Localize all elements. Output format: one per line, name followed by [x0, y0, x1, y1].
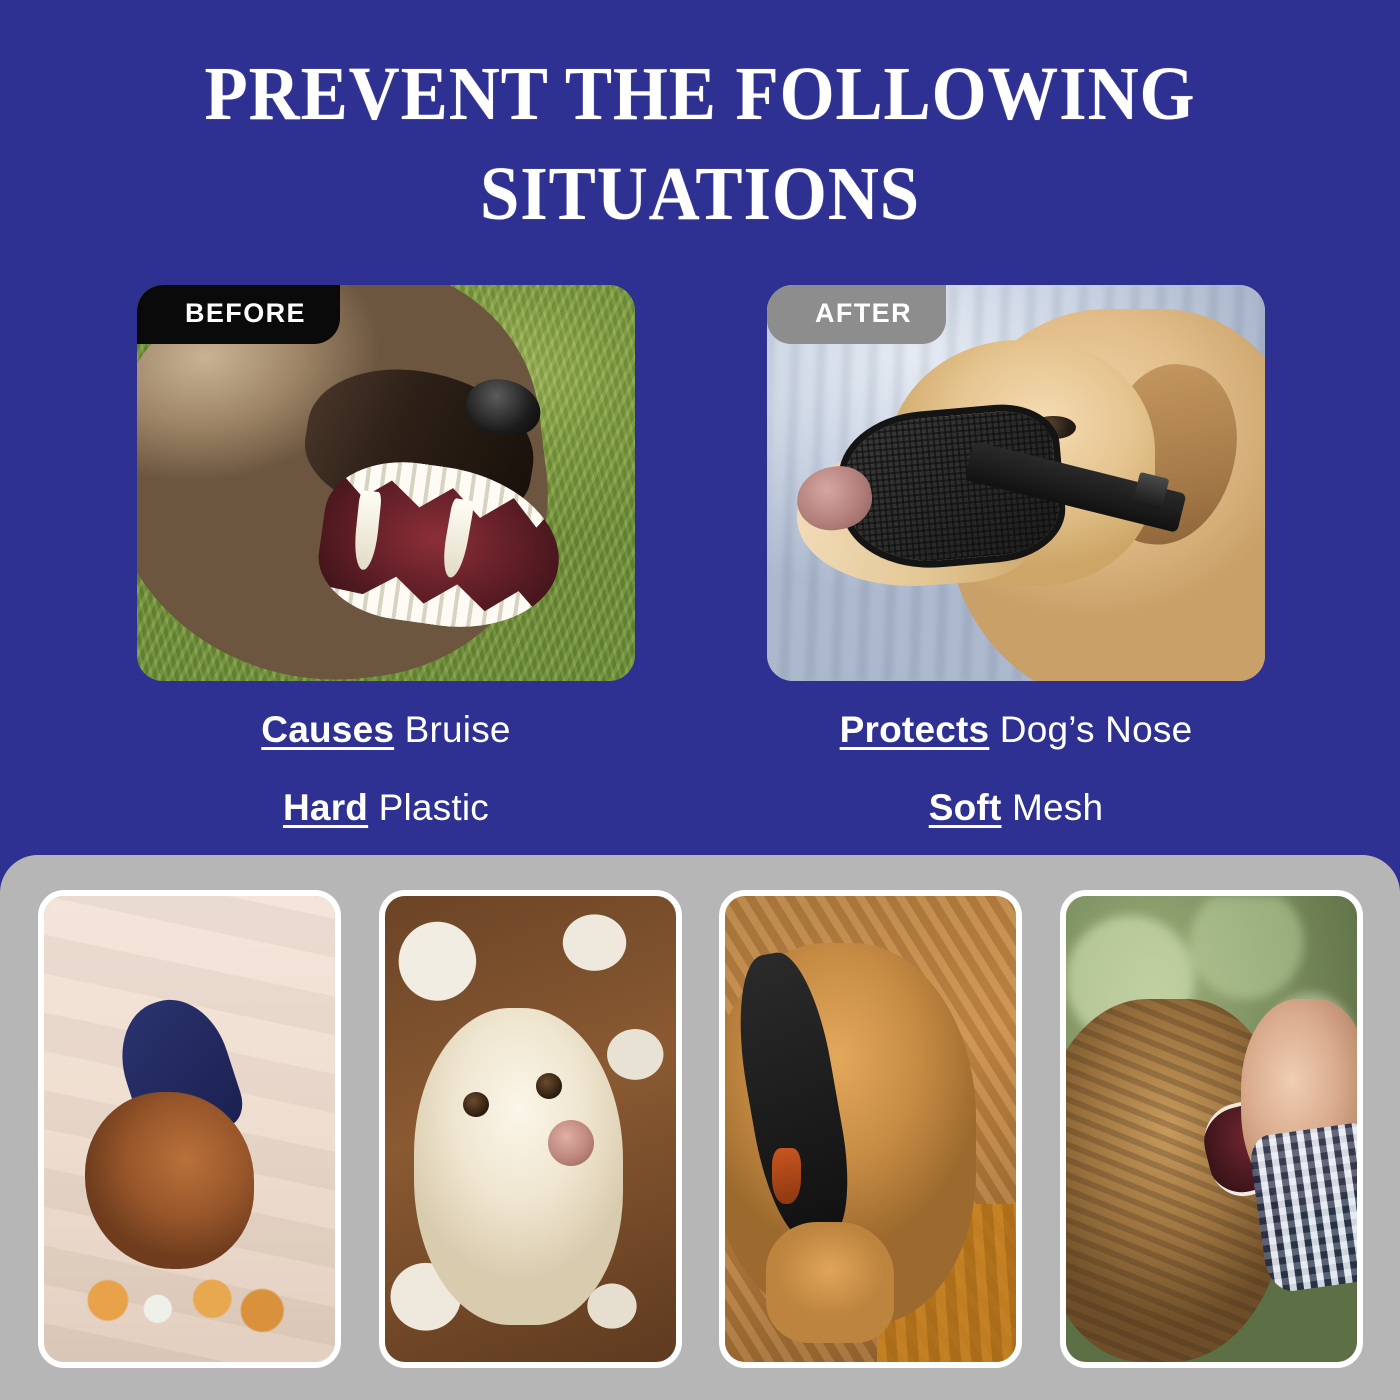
after-caption-1-strong: Protects — [840, 709, 990, 750]
paw-licking-dog-image — [725, 896, 1016, 1362]
messy-puppy-image — [44, 896, 335, 1362]
after-caption-1-rest: Dog’s Nose — [989, 709, 1192, 750]
before-caption-1-rest: Bruise — [394, 709, 511, 750]
before-caption-1: Causes Bruise — [137, 709, 635, 751]
before-caption-2: Hard Plastic — [137, 787, 635, 829]
before-badge: BEFORE — [137, 285, 340, 344]
before-caption-1-strong: Causes — [261, 709, 394, 750]
after-caption-2-strong: Soft — [929, 787, 1002, 828]
gallery-item-1 — [38, 890, 341, 1368]
puppy-shape — [85, 1092, 254, 1269]
after-badge: AFTER — [767, 285, 946, 344]
after-caption-2-rest: Mesh — [1001, 787, 1103, 828]
before-after-comparison: BEFORE Causes Bruise Hard Plastic AFT — [0, 285, 1400, 845]
before-photo: BEFORE — [137, 285, 635, 681]
after-caption-1: Protects Dog’s Nose — [767, 709, 1265, 751]
dog-paw-shape — [766, 1222, 894, 1343]
gallery-item-3 — [719, 890, 1022, 1368]
before-column: BEFORE Causes Bruise Hard Plastic — [137, 285, 635, 681]
shredded-paper-dog-image — [385, 896, 676, 1362]
after-photo: AFTER — [767, 285, 1265, 681]
gallery-thumbnails — [38, 890, 1363, 1368]
before-caption-2-rest: Plastic — [368, 787, 489, 828]
after-caption-2: Soft Mesh — [767, 787, 1265, 829]
dog-eye-right — [536, 1073, 562, 1099]
dog-open-mouth-shape — [311, 451, 570, 641]
after-column: AFTER Protects Dog’s Nose Soft Mesh — [767, 285, 1265, 681]
page-title: PREVENT THE FOLLOWING SITUATIONS — [49, 44, 1351, 245]
paper-scraps-shape — [67, 1250, 294, 1334]
gallery-item-2 — [379, 890, 682, 1368]
before-caption-2-strong: Hard — [283, 787, 368, 828]
muzzled-dog-image — [767, 285, 1265, 681]
aggressive-dog-image — [137, 285, 635, 681]
dog-biting-hand-image — [1066, 896, 1357, 1362]
collar-tag-shape — [772, 1148, 801, 1204]
gallery-item-4 — [1060, 890, 1363, 1368]
labrador-shape — [414, 1008, 624, 1325]
dog-nose-shape — [548, 1120, 595, 1167]
gallery-panel — [0, 855, 1400, 1400]
